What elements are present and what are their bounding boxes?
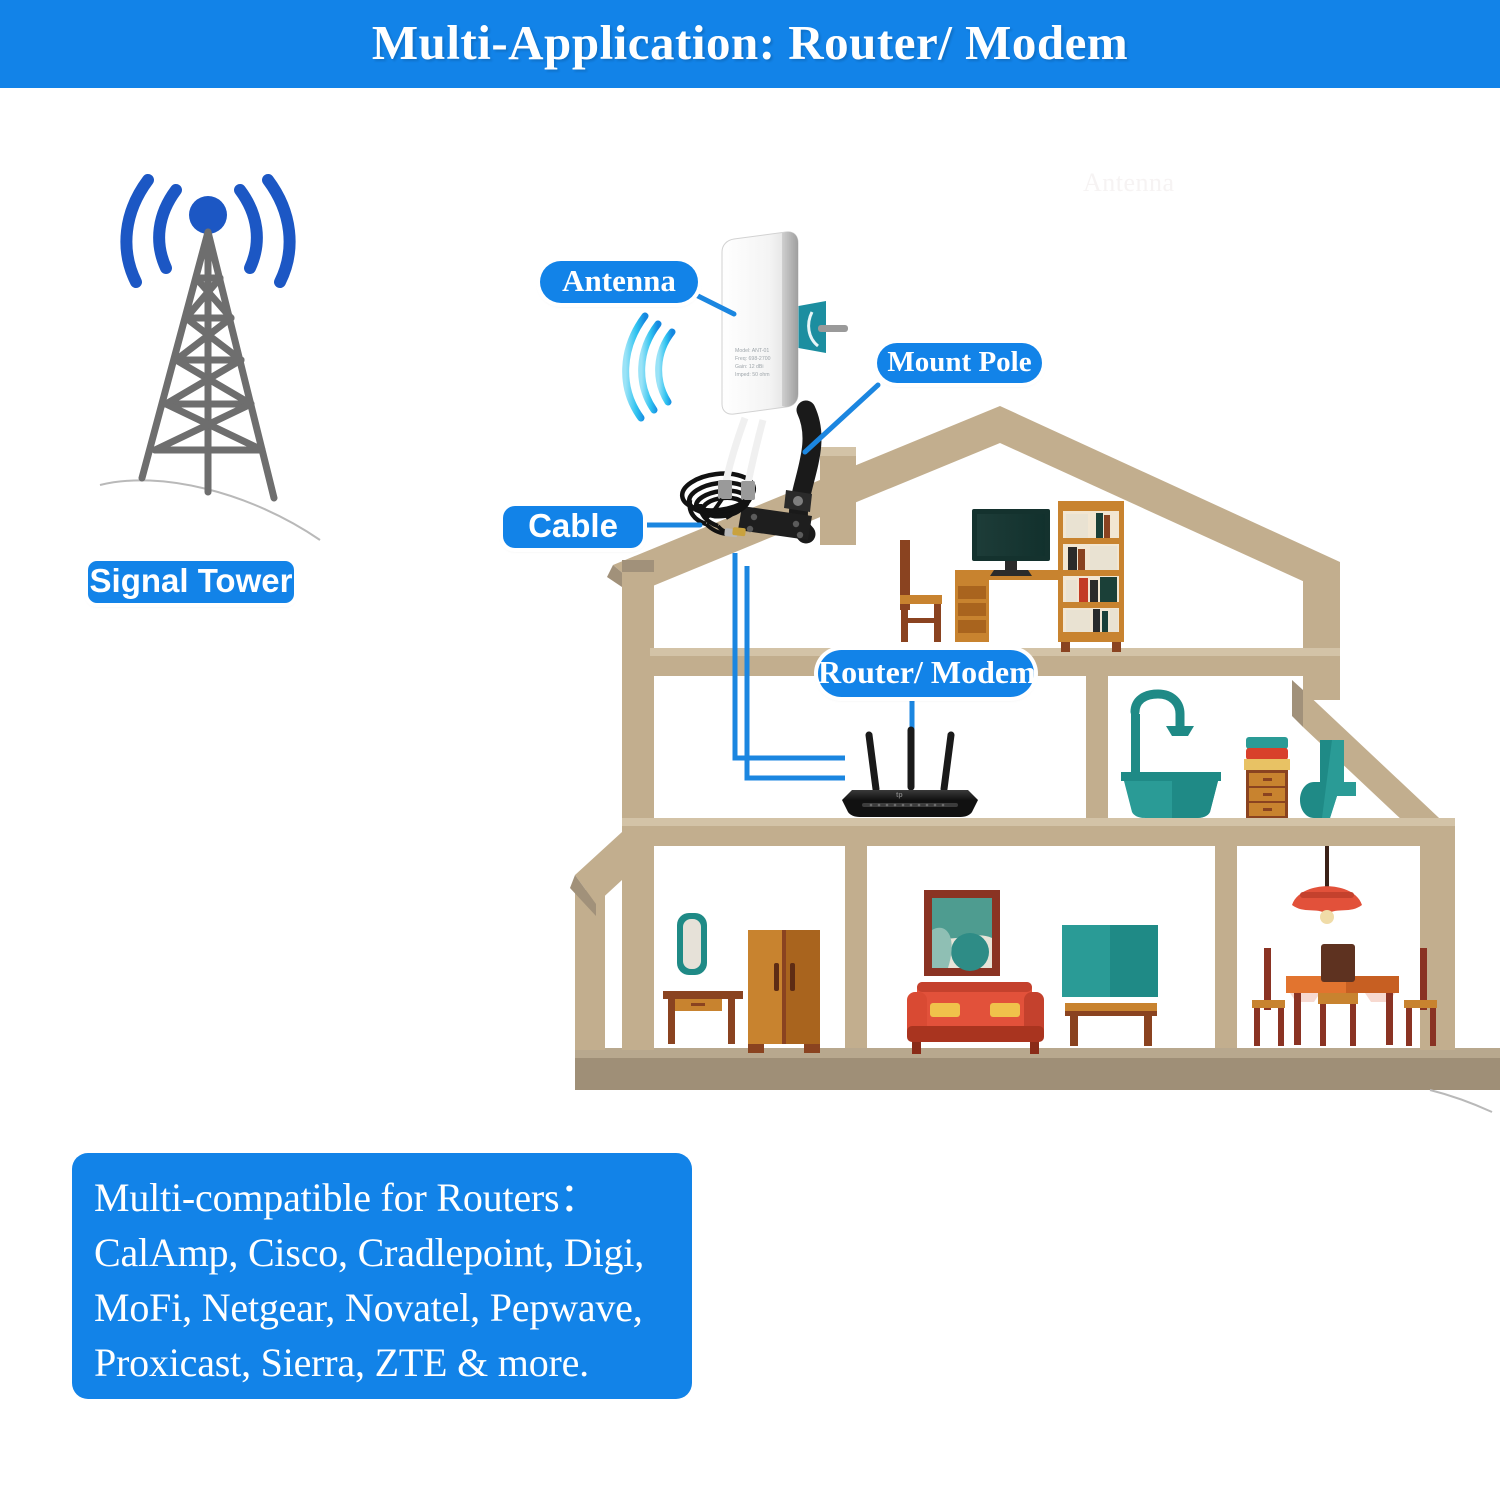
signal-tower-label: Signal Tower	[88, 561, 294, 603]
infographic-page: Multi-Application: Router/ Modem Antenna	[0, 0, 1500, 1500]
compat-line-2: MoFi, Netgear, Novatel, Pepwave,	[94, 1280, 670, 1335]
attic-bookshelf	[1058, 501, 1124, 652]
signal-tower-icon	[100, 180, 320, 540]
svg-text:Freq: 698-2700: Freq: 698-2700	[735, 356, 771, 362]
wall-mirror	[677, 913, 707, 975]
svg-text:Model: ANT-01: Model: ANT-01	[735, 348, 769, 354]
wall-picture	[924, 890, 1000, 976]
router-modem-label-text: Router/ Modem	[818, 654, 1036, 690]
svg-text:tp: tp	[896, 792, 903, 799]
compatibility-box: Multi-compatible for Routers： CalAmp, Ci…	[72, 1153, 692, 1399]
towel-dresser	[1244, 737, 1290, 818]
antenna-label-text: Antenna	[562, 263, 676, 298]
svg-text:Imped: 50 ohm: Imped: 50 ohm	[735, 372, 770, 378]
cable-label: Cable	[503, 506, 643, 548]
mount-pole-label-text: Mount Pole	[887, 346, 1031, 378]
compat-line-1: CalAmp, Cisco, Cradlepoint, Digi,	[94, 1225, 670, 1280]
television	[1062, 925, 1158, 997]
svg-text:Gain: 12 dBi: Gain: 12 dBi	[735, 364, 764, 370]
compat-line-3: Proxicast, Sierra, ZTE & more.	[94, 1335, 670, 1390]
antenna-label: Antenna	[540, 261, 698, 303]
mount-pole-label: Mount Pole	[877, 343, 1042, 383]
router-modem-label: Router/ Modem	[818, 650, 1034, 697]
compat-heading: Multi-compatible for Routers：	[94, 1170, 670, 1225]
wardrobe	[748, 930, 820, 1053]
cable-label-text: Cable	[528, 507, 618, 544]
signal-tower-label-text: Signal Tower	[90, 562, 293, 599]
